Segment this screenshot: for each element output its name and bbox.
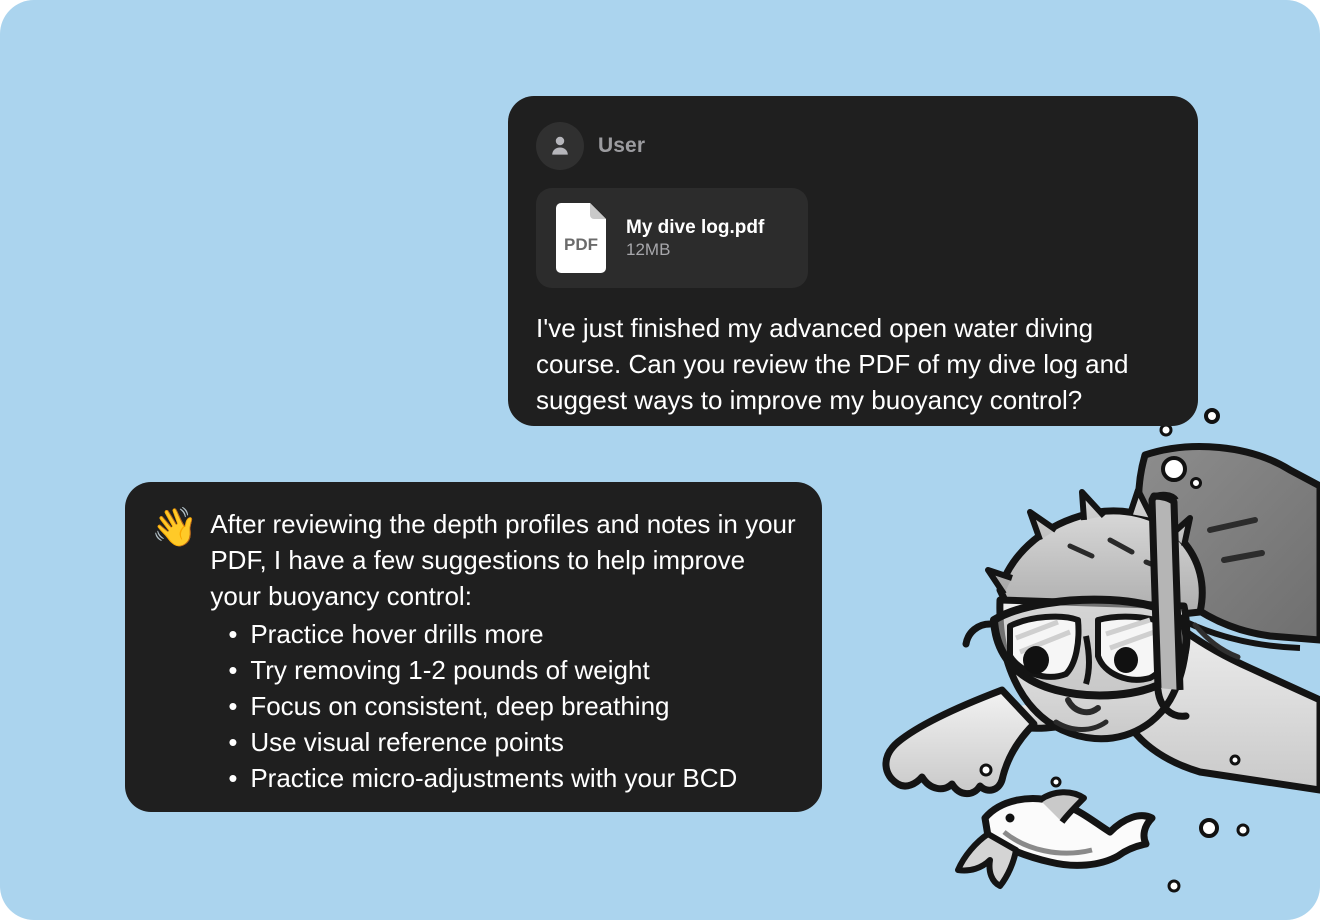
assistant-message-row: 👋 After reviewing the depth profiles and… bbox=[151, 506, 796, 796]
list-item: Use visual reference points bbox=[210, 724, 796, 760]
waving-hand-emoji: 👋 bbox=[151, 508, 198, 548]
attachment-meta: My dive log.pdf 12MB bbox=[626, 216, 792, 260]
assistant-intro-text: After reviewing the depth profiles and n… bbox=[210, 506, 796, 614]
list-item: Focus on consistent, deep breathing bbox=[210, 688, 796, 724]
svg-text:PDF: PDF bbox=[564, 235, 598, 254]
app-canvas: User PDF My dive log.pdf 12MB I've just … bbox=[0, 0, 1320, 920]
fish-illustration bbox=[958, 792, 1152, 886]
attachment-filesize: 12MB bbox=[626, 240, 670, 259]
pdf-file-icon: PDF bbox=[552, 202, 610, 274]
air-bubbles bbox=[981, 387, 1248, 891]
pdf-attachment-card[interactable]: PDF My dive log.pdf 12MB bbox=[536, 188, 808, 288]
list-item: Practice micro-adjustments with your BCD bbox=[210, 760, 796, 796]
list-item: Try removing 1-2 pounds of weight bbox=[210, 652, 796, 688]
user-message-text: I've just finished my advanced open wate… bbox=[536, 310, 1170, 418]
attachment-filename: My dive log.pdf bbox=[626, 217, 764, 238]
assistant-message-bubble: 👋 After reviewing the depth profiles and… bbox=[125, 482, 822, 812]
diver-figure bbox=[886, 447, 1320, 794]
assistant-message-body: After reviewing the depth profiles and n… bbox=[210, 506, 796, 796]
user-message-bubble: User PDF My dive log.pdf 12MB I've just … bbox=[508, 96, 1198, 426]
list-item: Practice hover drills more bbox=[210, 616, 796, 652]
assistant-suggestion-list: Practice hover drills more Try removing … bbox=[210, 616, 796, 796]
user-message-header: User bbox=[536, 122, 1170, 170]
user-author-label: User bbox=[598, 134, 645, 158]
person-avatar-icon bbox=[536, 122, 584, 170]
